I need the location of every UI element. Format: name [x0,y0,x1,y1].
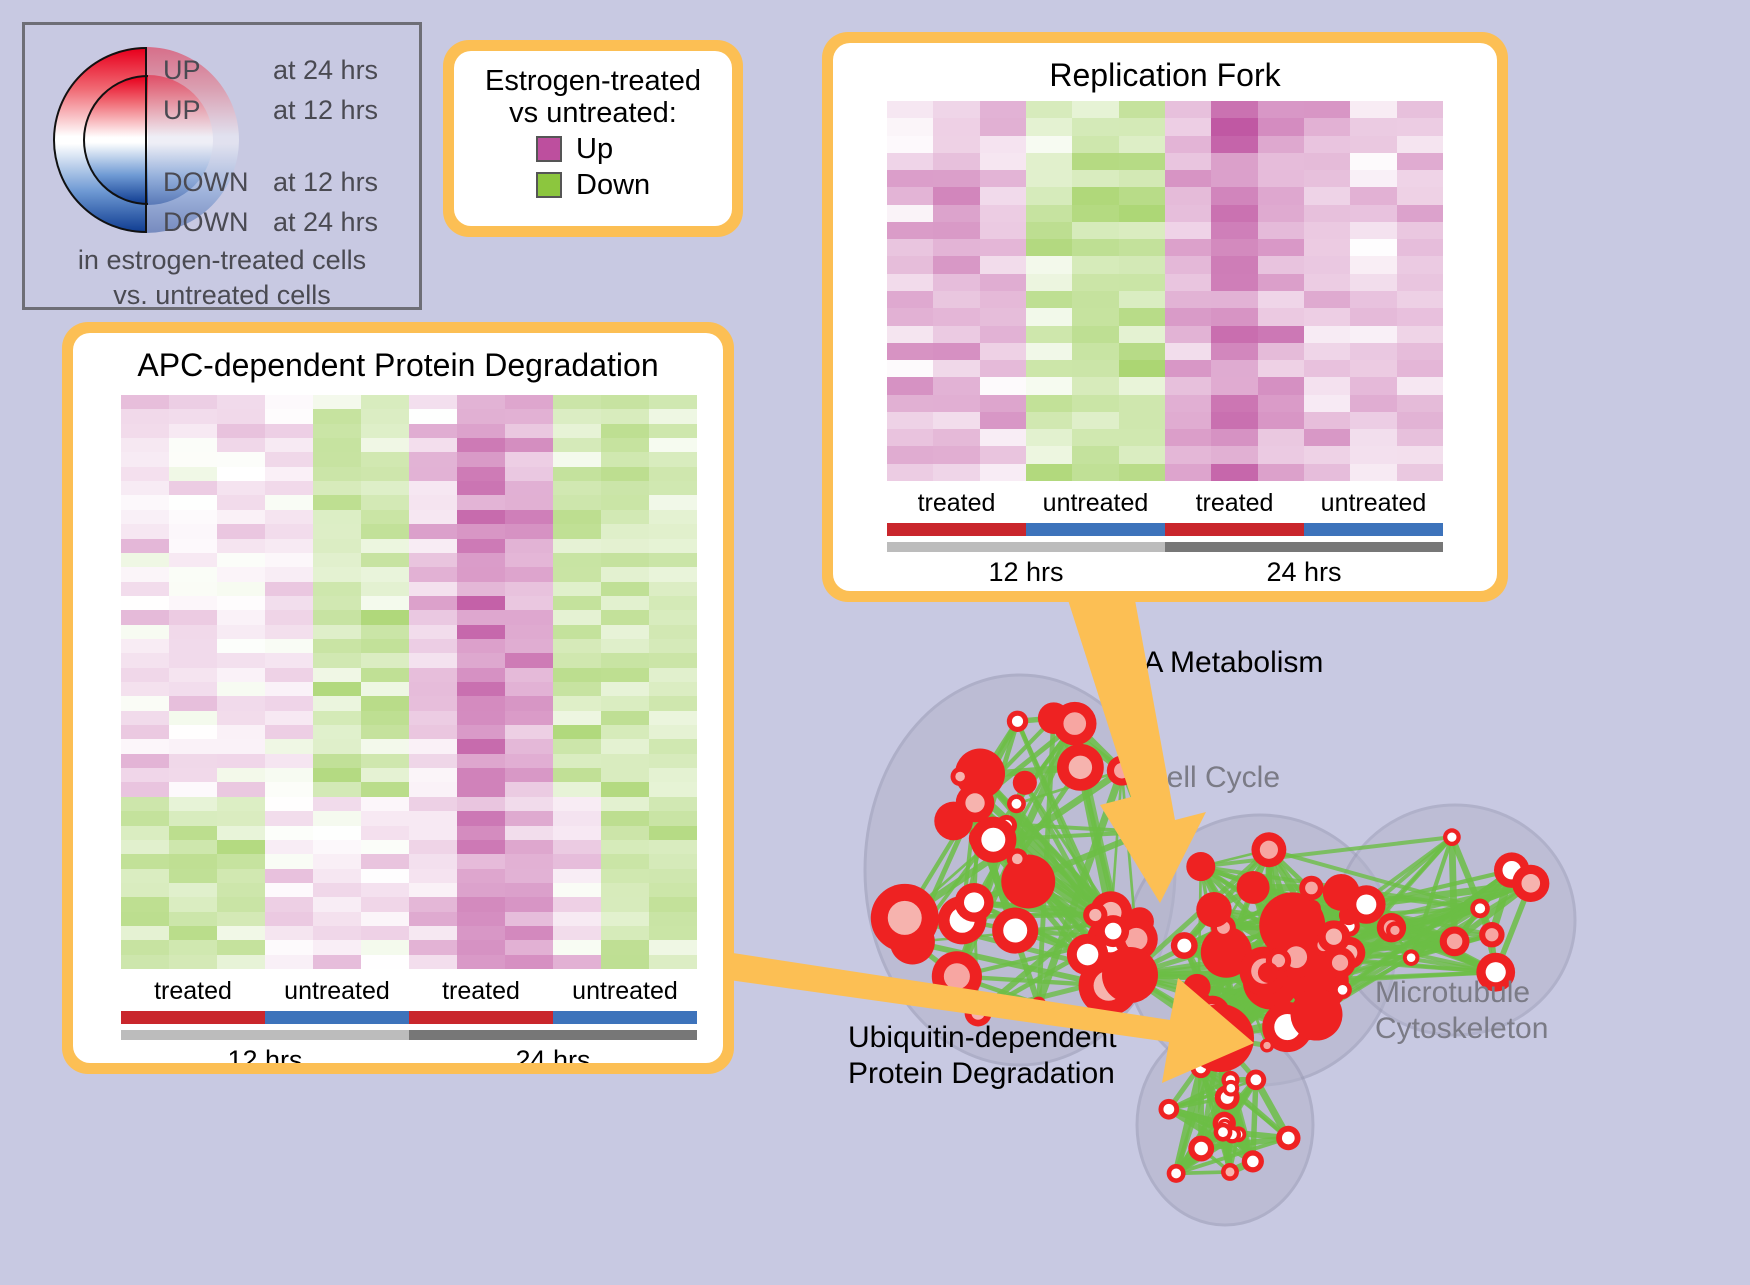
heatmap-cell [1119,153,1165,170]
heatmap-cell [1165,464,1211,481]
heatmap-cell [265,725,313,739]
heatmap-cell [1165,360,1211,377]
network-node[interactable] [1214,1123,1233,1142]
heatmap-cell [553,912,601,926]
heatmap-cell [169,696,217,710]
heatmap-cell [1211,464,1257,481]
heatmap-cell [505,897,553,911]
heatmap-cell [1304,187,1350,204]
apc-time-label-24hrs: 24 hrs [409,1045,697,1063]
network-node[interactable] [1512,865,1549,902]
heatmap-cell [601,955,649,969]
heatmap-cell [1211,205,1257,222]
heatmap-cell [409,711,457,725]
network-node[interactable] [1291,989,1343,1041]
heatmap-cell [649,610,697,624]
heatmap-cell [553,553,601,567]
heatmap-cell [1026,326,1072,343]
ring-key-up-24: UP [163,55,201,86]
heatmap-cell [553,926,601,940]
heatmap-cell [217,711,265,725]
heatmap-cell [1165,187,1211,204]
heatmap-cell [361,696,409,710]
heatmap-cell [361,840,409,854]
network-node[interactable] [1258,962,1279,983]
network-node[interactable] [1440,926,1470,956]
heatmap-cell [933,153,979,170]
heatmap-cell [457,739,505,753]
heatmap-cell [553,452,601,466]
heatmap-cell [313,768,361,782]
heatmap-cell [1072,256,1118,273]
ring-footer-line2: vs. untreated cells [25,278,419,313]
heatmap-cell [933,256,979,273]
heatmap-cell [169,854,217,868]
heatmap-cell [553,940,601,954]
heatmap-cell [361,739,409,753]
heatmap-cell [121,739,169,753]
apc-group-bar-treated-24 [409,1011,553,1024]
heatmap-cell [361,682,409,696]
heatmap-cell [649,481,697,495]
network-node[interactable] [1057,744,1104,791]
heatmap-cell [887,377,933,394]
heatmap-cell [1211,429,1257,446]
col-label-untreated-24: untreated [1304,489,1443,518]
heatmap-cell [121,610,169,624]
heatmap-cell [1304,446,1350,463]
heatmap-cell [409,668,457,682]
heatmap-cell [933,308,979,325]
heatmap-cell [980,239,1026,256]
network-node[interactable] [1251,832,1286,867]
heatmap-cell [361,912,409,926]
heatmap-cell [121,840,169,854]
network-node[interactable] [951,767,970,786]
heatmap-cell [980,326,1026,343]
heatmap-cell [361,811,409,825]
heatmap-cell [553,582,601,596]
network-node[interactable] [1013,771,1037,795]
heatmap-cell [361,395,409,409]
heatmap-cell [1072,377,1118,394]
heatmap-apc [121,395,697,969]
heatmap-cell [649,668,697,682]
heatmap-cell [361,610,409,624]
heatmap-cell [457,840,505,854]
heatmap-cell [1072,101,1118,118]
heatmap-cell [1397,464,1443,481]
network-node[interactable] [1186,852,1215,881]
heatmap-cell [1165,326,1211,343]
heatmap-cell [265,610,313,624]
heatmap-cell [313,797,361,811]
heatmap-cell [457,897,505,911]
heatmap-cell [313,854,361,868]
heatmap-cell [505,567,553,581]
heatmap-cell [553,524,601,538]
heatmap-cell [169,524,217,538]
heatmap-cell [505,826,553,840]
network-node[interactable] [1053,702,1097,746]
network-node[interactable] [1304,900,1321,917]
heatmap-cell [1211,118,1257,135]
heatmap-cell [217,610,265,624]
heatmap-cell [409,739,457,753]
heatmap-cell [649,409,697,423]
heatmap-cell [933,101,979,118]
apc-time-label-12hrs: 12 hrs [121,1045,409,1063]
heatmap-cell [1211,412,1257,429]
heatmap-cell [933,360,979,377]
heatmap-cell [1119,256,1165,273]
network-edge [1253,1080,1256,1162]
heatmap-cell [1350,101,1396,118]
heatmap-cell [1119,118,1165,135]
col-label-treated-24: treated [1165,489,1304,518]
heatmap-cell [409,883,457,897]
heatmap-cell [265,582,313,596]
heatmap-cell [265,596,313,610]
heatmap-cell [887,239,933,256]
ring-when-down-12: at 12 hrs [273,167,378,198]
legend-label-up: Up [576,133,613,166]
network-node[interactable] [1102,947,1158,1003]
heatmap-cell [601,854,649,868]
heatmap-cell [409,826,457,840]
down-color-swatch [536,172,562,198]
heatmap-cell [649,452,697,466]
heatmap-cell [601,826,649,840]
heatmap-cell [265,467,313,481]
heatmap-cell [457,912,505,926]
heatmap-cell [1258,205,1304,222]
heatmap-cell [217,883,265,897]
heatmap-cell [361,467,409,481]
network-node[interactable] [1007,848,1028,869]
network-node[interactable] [1317,920,1350,953]
heatmap-cell [980,256,1026,273]
heatmap-cell [1026,205,1072,222]
heatmap-cell [313,539,361,553]
heatmap-cell [1072,291,1118,308]
heatmap-cell [505,424,553,438]
heatmap-cell [505,840,553,854]
heatmap-cell [121,940,169,954]
heatmap-cell [887,256,933,273]
network-node[interactable] [1470,899,1490,919]
heatmap-cell [409,438,457,452]
heatmap-cell [1072,343,1118,360]
heatmap-cell [121,725,169,739]
heatmap-cell [169,955,217,969]
heatmap-cell [409,610,457,624]
heatmap-cell [1072,360,1118,377]
heatmap-cell [1397,412,1443,429]
heatmap-cell [649,395,697,409]
heatmap-cell [121,452,169,466]
network-node[interactable] [955,883,994,922]
heatmap-cell [649,596,697,610]
heatmap-cell [1165,136,1211,153]
heatmap-cell [217,826,265,840]
heatmap-cell [169,510,217,524]
heatmap-cell [933,395,979,412]
heatmap-cell [933,187,979,204]
network-node[interactable] [1007,794,1026,813]
heatmap-cell [1165,412,1211,429]
network-node[interactable] [1333,981,1352,1000]
network-node[interactable] [1107,756,1137,786]
heatmap-cell [121,711,169,725]
heatmap-cell [1211,153,1257,170]
heatmap-cell [1304,343,1350,360]
panel-title-replication-fork: Replication Fork [833,57,1497,94]
heatmap-cell [933,118,979,135]
heatmap-cell [265,940,313,954]
network-node[interactable] [871,884,939,952]
heatmap-cell [409,395,457,409]
heatmap-cell [1304,429,1350,446]
heatmap-cell [1304,377,1350,394]
heatmap-cell [933,222,979,239]
heatmap-cell [933,239,979,256]
heatmap-cell [505,955,553,969]
heatmap-cell [1258,326,1304,343]
heatmap-cell [505,481,553,495]
heatmap-cell [169,596,217,610]
heatmap-cell [553,409,601,423]
heatmap-cell [553,610,601,624]
heatmap-cell [1119,222,1165,239]
panel-apc-degradation: APC-dependent Protein Degradation treate… [62,322,734,1074]
heatmap-cell [649,510,697,524]
heatmap-cell [887,274,933,291]
network-node[interactable] [1196,892,1231,927]
heatmap-replication-fork [887,101,1443,481]
heatmap-cell [1072,395,1118,412]
heatmap-cell [553,768,601,782]
heatmap-cell [887,429,933,446]
heatmap-cell [980,187,1026,204]
heatmap-cell [1026,153,1072,170]
heatmap-cell [553,826,601,840]
heatmap-cell [1397,136,1443,153]
heatmap-cell [457,409,505,423]
network-node[interactable] [1246,1069,1267,1090]
heatmap-cell [1165,377,1211,394]
heatmap-cell [121,409,169,423]
heatmap-cell [361,596,409,610]
heatmap-cell [649,495,697,509]
heatmap-cell [1258,187,1304,204]
heatmap-cell [1211,187,1257,204]
heatmap-cell [457,754,505,768]
time-label-24hrs: 24 hrs [1165,557,1443,588]
heatmap-cell [601,754,649,768]
heatmap-cell [1165,395,1211,412]
heatmap-cell [313,668,361,682]
heatmap-cell [361,452,409,466]
network-node[interactable] [1242,1150,1264,1172]
heatmap-cell [313,481,361,495]
heatmap-cell [313,811,361,825]
heatmap-cell [649,782,697,796]
heatmap-cell [457,826,505,840]
network-node[interactable] [1167,1164,1186,1183]
heatmap-cell [361,424,409,438]
heatmap-cell [169,553,217,567]
heatmap-cell [1397,326,1443,343]
network-node[interactable] [956,784,995,823]
heatmap-cell [457,539,505,553]
network-node[interactable] [992,907,1038,953]
heatmap-cell [933,170,979,187]
network-node[interactable] [1276,1126,1300,1150]
network-node[interactable] [1121,807,1171,857]
network-node[interactable] [1007,711,1028,732]
heatmap-cell [601,409,649,423]
heatmap-cell [505,524,553,538]
heatmap-cell [457,869,505,883]
heatmap-cell [457,940,505,954]
heatmap-cell [1211,256,1257,273]
heatmap-cell [217,495,265,509]
network-node[interactable] [1158,1099,1179,1120]
heatmap-cell [1304,205,1350,222]
heatmap-cell [1211,446,1257,463]
heatmap-cell [505,754,553,768]
heatmap-cell [1350,170,1396,187]
heatmap-cell [1072,153,1118,170]
heatmap-cell [313,524,361,538]
heatmap-cell [601,696,649,710]
network-node[interactable] [1031,997,1046,1012]
heatmap-cell [265,438,313,452]
heatmap-cell [601,582,649,596]
heatmap-cell [361,768,409,782]
heatmap-cell [649,682,697,696]
legend-label-down: Down [576,169,650,202]
heatmap-cell [601,553,649,567]
heatmap-cell [457,452,505,466]
heatmap-cell [265,539,313,553]
group-bar-untreated-24 [1304,523,1443,536]
heatmap-cell [933,446,979,463]
heatmap-cell [1026,429,1072,446]
heatmap-cell [1211,343,1257,360]
heatmap-cell [505,495,553,509]
heatmap-cell [505,510,553,524]
network-node[interactable] [1222,1080,1239,1097]
panel-title-apc: APC-dependent Protein Degradation [73,347,723,384]
heatmap-cell [1119,429,1165,446]
heatmap-cell [1026,187,1072,204]
heatmap-cell [121,926,169,940]
heatmap-cell [553,696,601,710]
heatmap-cell [409,467,457,481]
heatmap-cell [649,711,697,725]
heatmap-cell [409,912,457,926]
heatmap-cell [217,582,265,596]
heatmap-cell [649,438,697,452]
network-node[interactable] [1188,1136,1214,1162]
heatmap-cell [313,452,361,466]
heatmap-cell [1119,308,1165,325]
network-node[interactable] [1443,828,1461,846]
heatmap-cell [361,524,409,538]
heatmap-cell [1304,464,1350,481]
time-bar-12hrs [887,542,1165,552]
heatmap-cell [1072,274,1118,291]
heatmap-cell [1258,239,1304,256]
network-node[interactable] [1403,949,1420,966]
heatmap-cell [457,854,505,868]
heatmap-cell [265,510,313,524]
heatmap-cell [553,854,601,868]
heatmap-cell [553,510,601,524]
heatmap-cell [601,739,649,753]
heatmap-cell [361,797,409,811]
heatmap-cell [1119,395,1165,412]
heatmap-cell [169,840,217,854]
heatmap-cell [265,524,313,538]
heatmap-cell [217,510,265,524]
network-node[interactable] [932,951,982,1001]
heatmap-cell [553,539,601,553]
heatmap-cell [649,854,697,868]
heatmap-cell [1119,170,1165,187]
heatmap-cell [169,639,217,653]
heatmap-cell [1397,429,1443,446]
heatmap-cell [313,739,361,753]
heatmap-cell [553,625,601,639]
network-node[interactable] [1260,1038,1274,1052]
network-node[interactable] [1221,1163,1239,1181]
heatmap-cell [217,524,265,538]
heatmap-cell [169,668,217,682]
ring-when-up-12: at 12 hrs [273,95,378,126]
network-node[interactable] [1171,932,1198,959]
network-node[interactable] [1237,871,1270,904]
network-svg [790,620,1750,1280]
network-node[interactable] [1186,1004,1254,1072]
heatmap-cell [265,711,313,725]
heatmap-cell [887,118,933,135]
heatmap-cell [1304,395,1350,412]
heatmap-cell [121,883,169,897]
network-node[interactable] [1083,903,1107,927]
network-node[interactable] [1479,922,1504,947]
heatmap-cell [933,377,979,394]
network-node[interactable] [1386,921,1404,939]
heatmap-cell [1397,360,1443,377]
heatmap-cell [1397,308,1443,325]
heatmap-cell [409,539,457,553]
heatmap-cell [121,768,169,782]
heatmap-cell [169,682,217,696]
network-node[interactable] [1347,885,1386,924]
heatmap-cell [217,409,265,423]
heatmap-cell [1072,326,1118,343]
heatmap-cell [1165,429,1211,446]
heatmap-cell [649,754,697,768]
heatmap-cell [601,467,649,481]
heatmap-cell [121,869,169,883]
heatmap-cell [121,797,169,811]
heatmap-cell [265,883,313,897]
heatmap-cell [1119,446,1165,463]
